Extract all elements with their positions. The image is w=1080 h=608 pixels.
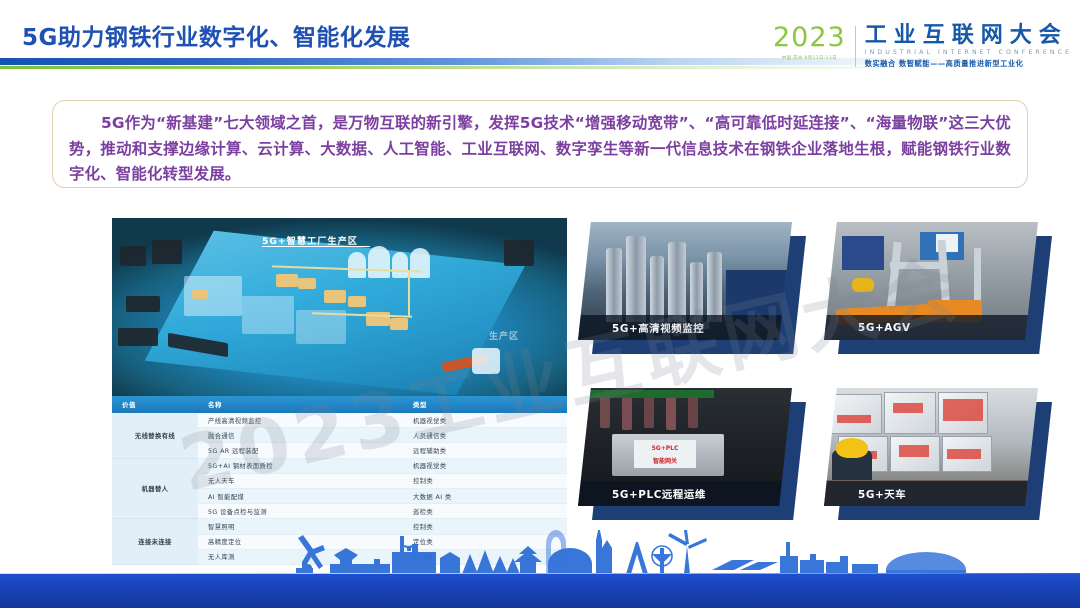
card-caption-bar: 5G+高清视频监控: [578, 315, 792, 340]
factory-block: [504, 240, 534, 266]
table-cell-name: 无人天车: [198, 473, 403, 488]
card-frame: 5G+PLC 智能网关 5G+PLC远程运维: [578, 388, 792, 506]
card-frame: 5G+天车: [824, 388, 1038, 506]
column-header-value: 价值: [112, 396, 198, 413]
card-caption-bar: 5G+AGV: [824, 315, 1038, 340]
callout-box: 5G作为“新基建”七大领域之首，是万物互联的新引擎，发挥5G技术“增强移动宽带”…: [52, 100, 1028, 188]
logo-year-subtitle: 中国·苏州 8月11日-13日: [773, 55, 846, 61]
factory-machine: [348, 296, 366, 307]
table-cell-name: 5G+AI 钢材表面质检: [198, 458, 403, 473]
card-caption-bar: 5G+天车: [824, 481, 1038, 506]
factory-label: 5G+智慧工厂生产区: [262, 233, 358, 247]
slide-footer: [0, 530, 1080, 608]
card-caption: 5G+天车: [824, 486, 906, 501]
logo-text-block: 工业互联网大会 INDUSTRIAL INTERNET CONFERENCE 数…: [865, 24, 1072, 69]
card-caption-bar: 5G+PLC远程运维: [578, 481, 792, 506]
factory-block: [118, 328, 158, 346]
column-header-name: 名称: [198, 396, 403, 413]
table-cell-type: 巡检类: [403, 504, 567, 519]
smart-factory-illustration: 5G+智慧工厂生产区 生产区: [112, 218, 567, 398]
factory-silo: [392, 252, 408, 278]
logo-year-block: 2023 中国·苏州 8月11日-13日: [773, 24, 855, 61]
factory-silo: [410, 248, 430, 278]
table-cell-type: 大数据 AI 类: [403, 488, 567, 503]
factory-machine: [324, 290, 346, 303]
table-row: 无线替换有线产线高清视频监控机器视觉类: [112, 413, 567, 428]
table-cell-type: 机器视觉类: [403, 458, 567, 473]
factory-label-underline: [262, 246, 370, 247]
card-caption: 5G+AGV: [824, 322, 911, 334]
table-cell-type: 控制类: [403, 473, 567, 488]
table-cell-name: 产线高清视频监控: [198, 413, 403, 428]
table-cell-type: 人员通信类: [403, 428, 567, 443]
card-frame: 5G+AGV: [824, 222, 1038, 340]
table-cell-value-group: 机器替人: [112, 458, 198, 519]
table-cell-name: AI 智能配煤: [198, 488, 403, 503]
table-row: 机器替人5G+AI 钢材表面质检机器视觉类: [112, 458, 567, 473]
logo-name-cn: 工业互联网大会: [865, 24, 1072, 47]
factory-block: [120, 246, 146, 266]
slide-header: 5G助力钢铁行业数字化、智能化发展 2023 中国·苏州 8月11日-13日 工…: [0, 0, 1080, 80]
card-frame: 5G+高清视频监控: [578, 222, 792, 340]
table-cell-type: 机器视觉类: [403, 413, 567, 428]
card-caption: 5G+高清视频监控: [578, 320, 704, 335]
factory-conveyor: [408, 270, 410, 316]
factory-machine: [298, 278, 316, 289]
factory-block: [126, 296, 160, 312]
table-header-row: 价值 名称 类型: [112, 396, 567, 413]
column-header-type: 类型: [403, 396, 567, 413]
plc-badge-line2: 智能网关: [634, 453, 696, 466]
card-caption: 5G+PLC远程运维: [578, 486, 706, 501]
city-skyline-icon: [0, 530, 1080, 575]
logo-divider: [855, 26, 856, 67]
factory-silo: [348, 252, 366, 278]
plc-badge-line1: 5G+PLC: [634, 440, 696, 453]
page-title: 5G助力钢铁行业数字化、智能化发展: [22, 18, 410, 52]
callout-paragraph: 5G作为“新基建”七大领域之首，是万物互联的新引擎，发挥5G技术“增强移动宽带”…: [69, 111, 1011, 188]
factory-machine: [276, 274, 298, 287]
slide-canvas: 5G助力钢铁行业数字化、智能化发展 2023 中国·苏州 8月11日-13日 工…: [0, 0, 1080, 608]
table-cell-name: 5G AR 远程装配: [198, 443, 403, 458]
value-scenario-table: 价值 名称 类型 无线替换有线产线高清视频监控机器视觉类融合通信人员通信类5G …: [112, 396, 567, 524]
footer-band: [0, 574, 1080, 608]
factory-silo: [368, 246, 390, 278]
logo-name-en: INDUSTRIAL INTERNET CONFERENCE: [865, 49, 1072, 56]
factory-machine: [192, 290, 208, 299]
table-cell-value-group: 无线替换有线: [112, 413, 198, 458]
factory-block: [152, 240, 182, 264]
conference-logo: 2023 中国·苏州 8月11日-13日 工业互联网大会 INDUSTRIAL …: [773, 24, 1072, 69]
table-cell-type: 远程辅助类: [403, 443, 567, 458]
table-cell-name: 5G 设备点检与监测: [198, 504, 403, 519]
logo-year: 2023: [773, 24, 846, 51]
logo-slogan: 数实融合 数智赋能——高质量推进新型工业化: [865, 59, 1072, 69]
factory-sub-label: 生产区: [489, 329, 519, 342]
factory-hall: [242, 296, 294, 334]
factory-machine: [390, 318, 408, 330]
factory-equipment: [472, 348, 500, 374]
table-cell-name: 融合通信: [198, 428, 403, 443]
